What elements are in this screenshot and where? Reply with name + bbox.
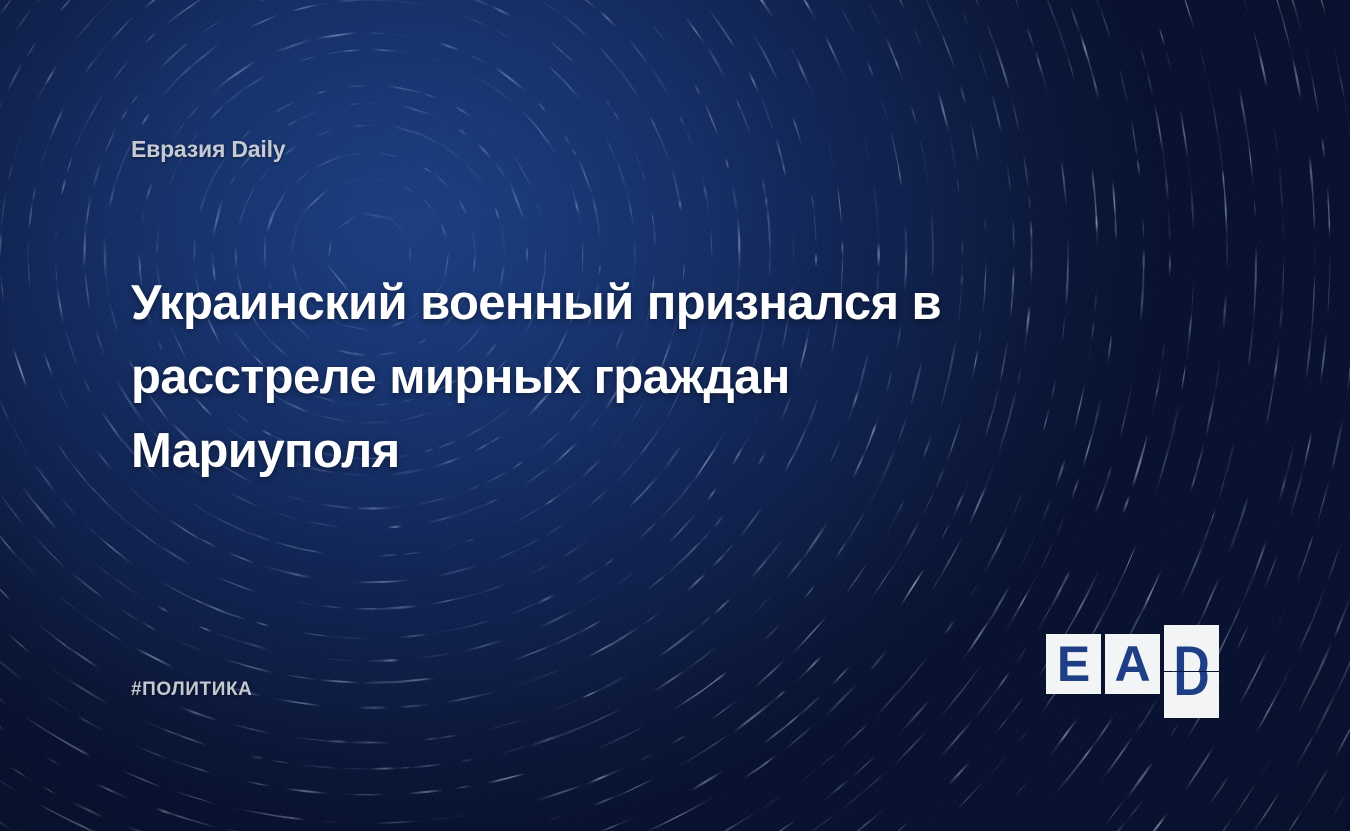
logo-letter-d-upper: D — [1173, 639, 1209, 671]
logo-tile-a: A — [1105, 634, 1160, 694]
eadaily-logo: E A D D — [1046, 625, 1224, 711]
news-card: Евразия Daily Украинский военный признал… — [0, 0, 1350, 831]
logo-tile-d-top: D — [1164, 625, 1219, 671]
logo-tile-d-bottom: D — [1164, 672, 1219, 718]
category-tag: #ПОЛИТИКА — [131, 679, 253, 701]
logo-letter-a: A — [1114, 639, 1150, 689]
headline: Украинский военный признался в расстреле… — [131, 266, 1031, 488]
brand-title: Евразия Daily — [131, 136, 285, 163]
logo-letter-e: E — [1057, 639, 1090, 689]
logo-letter-d-lower: D — [1173, 672, 1209, 703]
logo-tile-e: E — [1046, 634, 1101, 694]
